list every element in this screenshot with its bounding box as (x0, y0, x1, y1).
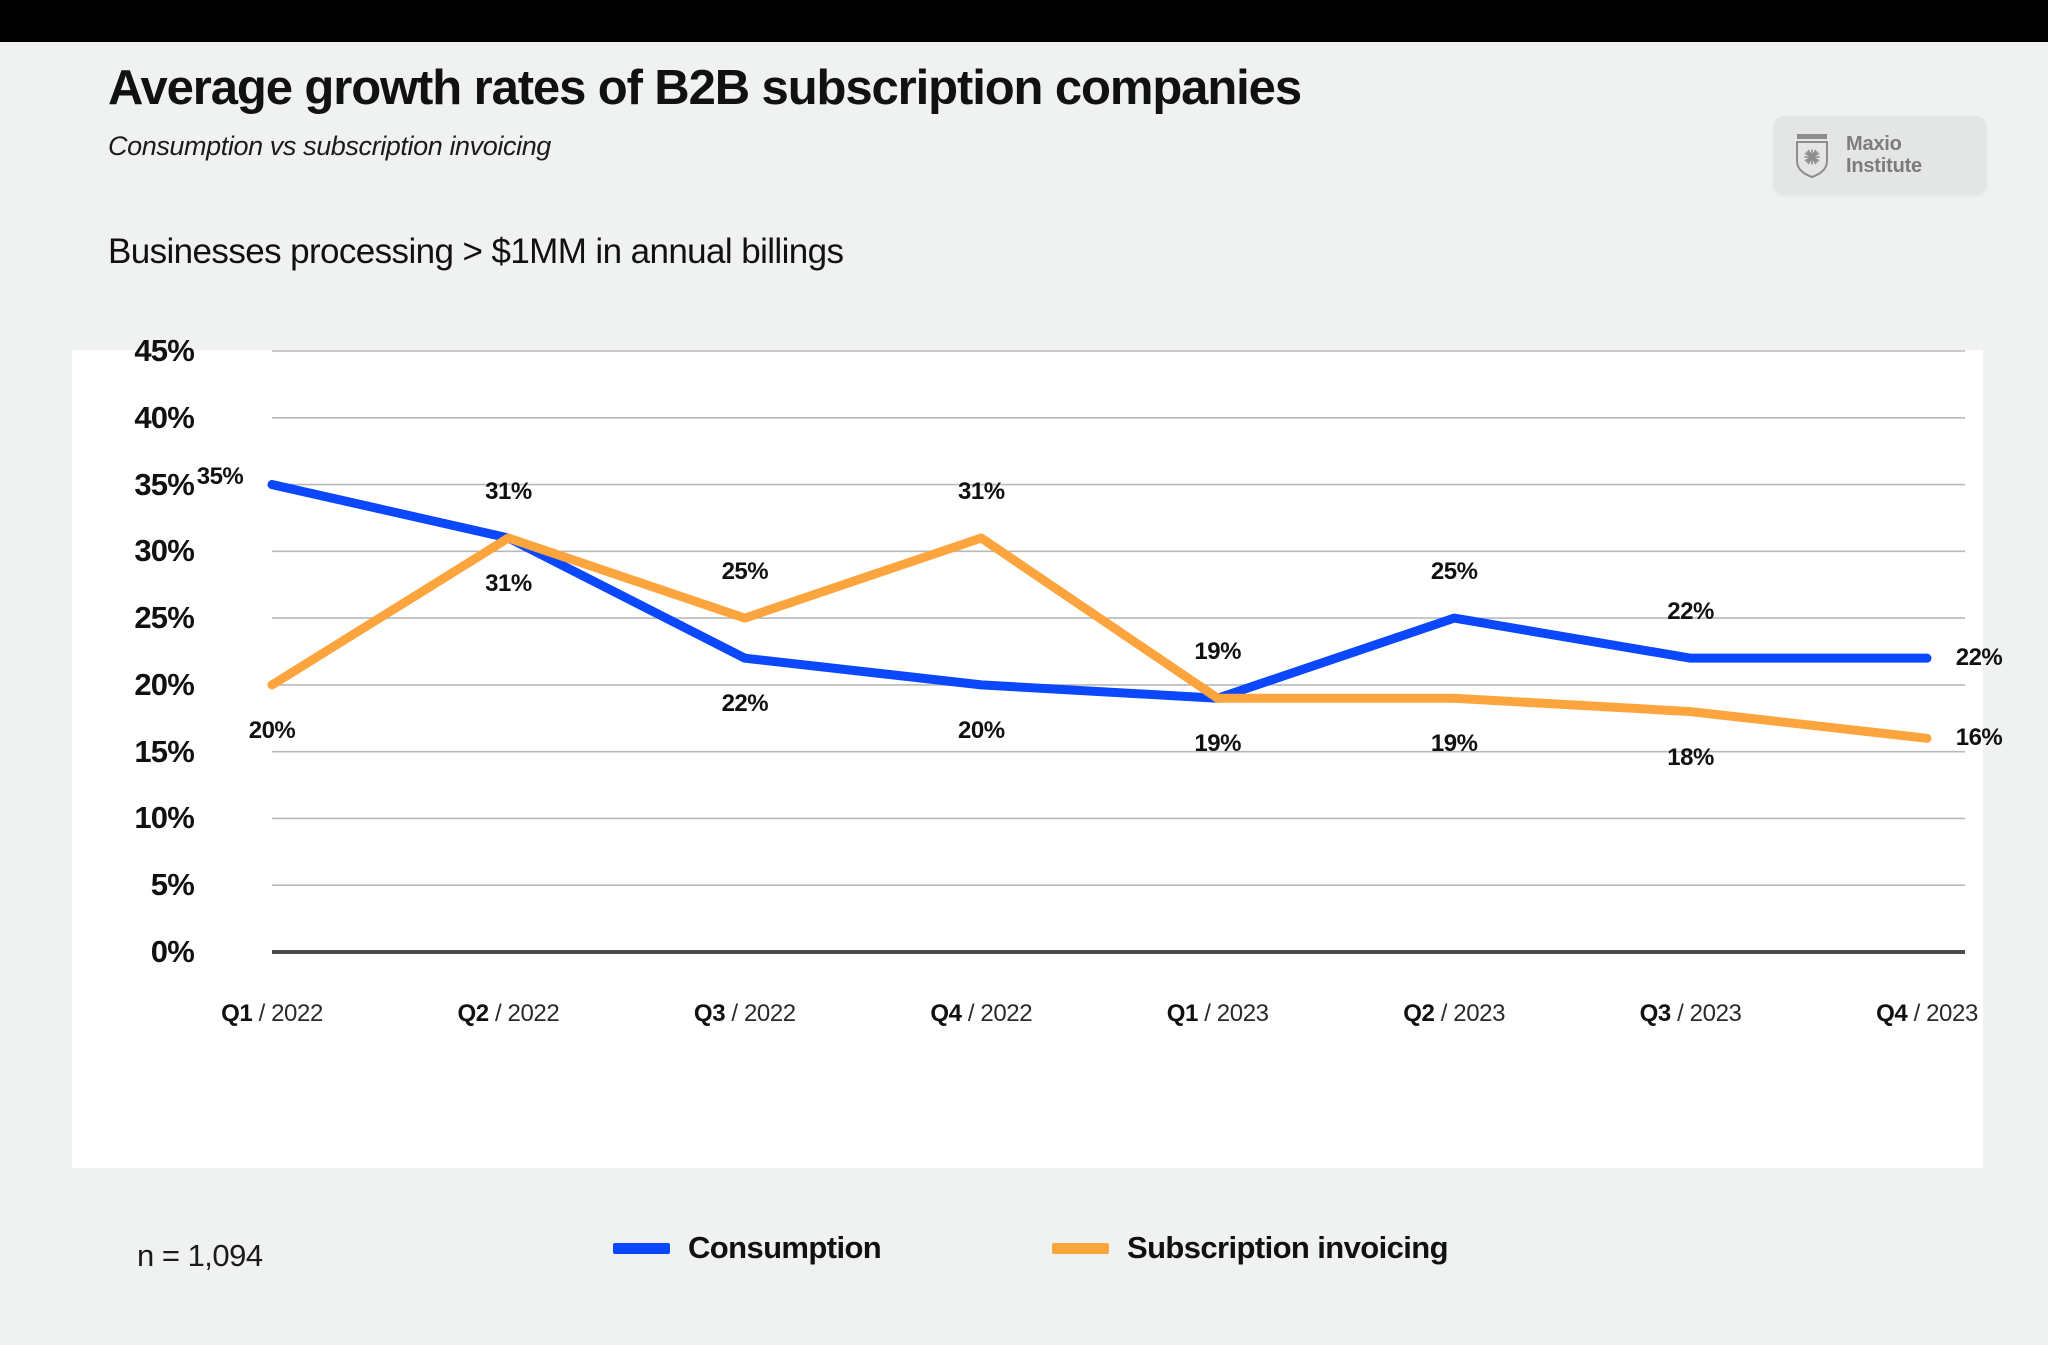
footer: n = 1,094 Consumption Subscription invoi… (0, 1200, 2048, 1310)
x-tick-quarter: Q4 (1876, 1000, 1907, 1027)
x-tick-quarter: Q2 (458, 1000, 489, 1027)
section-label: Businesses processing > $1MM in annual b… (108, 232, 843, 272)
x-tick-quarter: Q4 (930, 1000, 961, 1027)
maxio-institute-logo: Maxio Institute (1774, 116, 1986, 194)
x-tick-quarter: Q2 (1403, 1000, 1434, 1027)
x-tick-year: / 2023 (1907, 1000, 1978, 1027)
x-axis-tick-label: Q1 / 2022 (221, 1000, 323, 1028)
page-title: Average growth rates of B2B subscription… (108, 62, 1528, 116)
x-axis-tick-label: Q2 / 2022 (458, 1000, 560, 1028)
sample-size-label: n = 1,094 (137, 1238, 263, 1274)
x-tick-year: / 2022 (962, 1000, 1033, 1027)
legend-swatch-consumption (613, 1243, 670, 1254)
x-tick-year: / 2022 (725, 1000, 796, 1027)
data-point-label: 19% (1194, 730, 1241, 758)
x-axis-tick-label: Q3 / 2022 (694, 1000, 796, 1028)
legend-item-subscription[interactable]: Subscription invoicing (1052, 1230, 1448, 1266)
x-tick-year: / 2022 (489, 1000, 560, 1027)
legend-label-consumption: Consumption (688, 1230, 881, 1266)
data-point-label: 22% (1956, 644, 2003, 672)
legend-label-subscription: Subscription invoicing (1127, 1230, 1448, 1266)
data-point-label: 19% (1431, 730, 1478, 758)
logo-line-1: Maxio (1846, 133, 1902, 155)
x-tick-year: / 2023 (1671, 1000, 1742, 1027)
legend-swatch-subscription (1052, 1243, 1109, 1254)
x-tick-quarter: Q3 (1640, 1000, 1671, 1027)
header: Average growth rates of B2B subscription… (108, 62, 1528, 162)
x-axis-tick-label: Q1 / 2023 (1167, 1000, 1269, 1028)
shield-starburst-icon (1792, 131, 1832, 179)
x-tick-quarter: Q1 (1167, 1000, 1198, 1027)
data-point-label: 22% (722, 690, 769, 718)
data-point-label: 16% (1956, 724, 2003, 752)
x-tick-quarter: Q3 (694, 1000, 725, 1027)
page-subtitle: Consumption vs subscription invoicing (108, 131, 1528, 162)
x-axis-tick-label: Q3 / 2023 (1640, 1000, 1742, 1028)
data-point-label: 20% (958, 717, 1005, 745)
chart-panel: 45%40%35%30%25%20%15%10%5%0% 35%31%22%20… (72, 350, 1983, 1168)
data-point-label: 31% (958, 478, 1005, 506)
data-point-label: 25% (722, 558, 769, 586)
x-tick-year: / 2022 (252, 1000, 323, 1027)
logo-line-2: Institute (1846, 155, 1922, 177)
x-axis-tick-label: Q4 / 2023 (1876, 1000, 1978, 1028)
series-line-subscription-invoicing (272, 538, 1927, 738)
data-point-label: 19% (1194, 638, 1241, 666)
legend-item-consumption[interactable]: Consumption (613, 1230, 881, 1266)
data-point-label: 35% (197, 463, 244, 491)
x-tick-year: / 2023 (1198, 1000, 1269, 1027)
top-black-bar (0, 0, 2048, 42)
x-tick-quarter: Q1 (221, 1000, 252, 1027)
data-point-label: 18% (1667, 744, 1714, 772)
logo-wordmark: Maxio Institute (1846, 133, 1922, 178)
x-axis-tick-label: Q2 / 2023 (1403, 1000, 1505, 1028)
data-point-label: 25% (1431, 558, 1478, 586)
data-point-label: 20% (249, 717, 296, 745)
x-tick-year: / 2023 (1434, 1000, 1505, 1027)
data-point-label: 31% (485, 570, 532, 598)
x-axis-tick-label: Q4 / 2022 (930, 1000, 1032, 1028)
data-point-label: 22% (1667, 598, 1714, 626)
data-point-label: 31% (485, 478, 532, 506)
